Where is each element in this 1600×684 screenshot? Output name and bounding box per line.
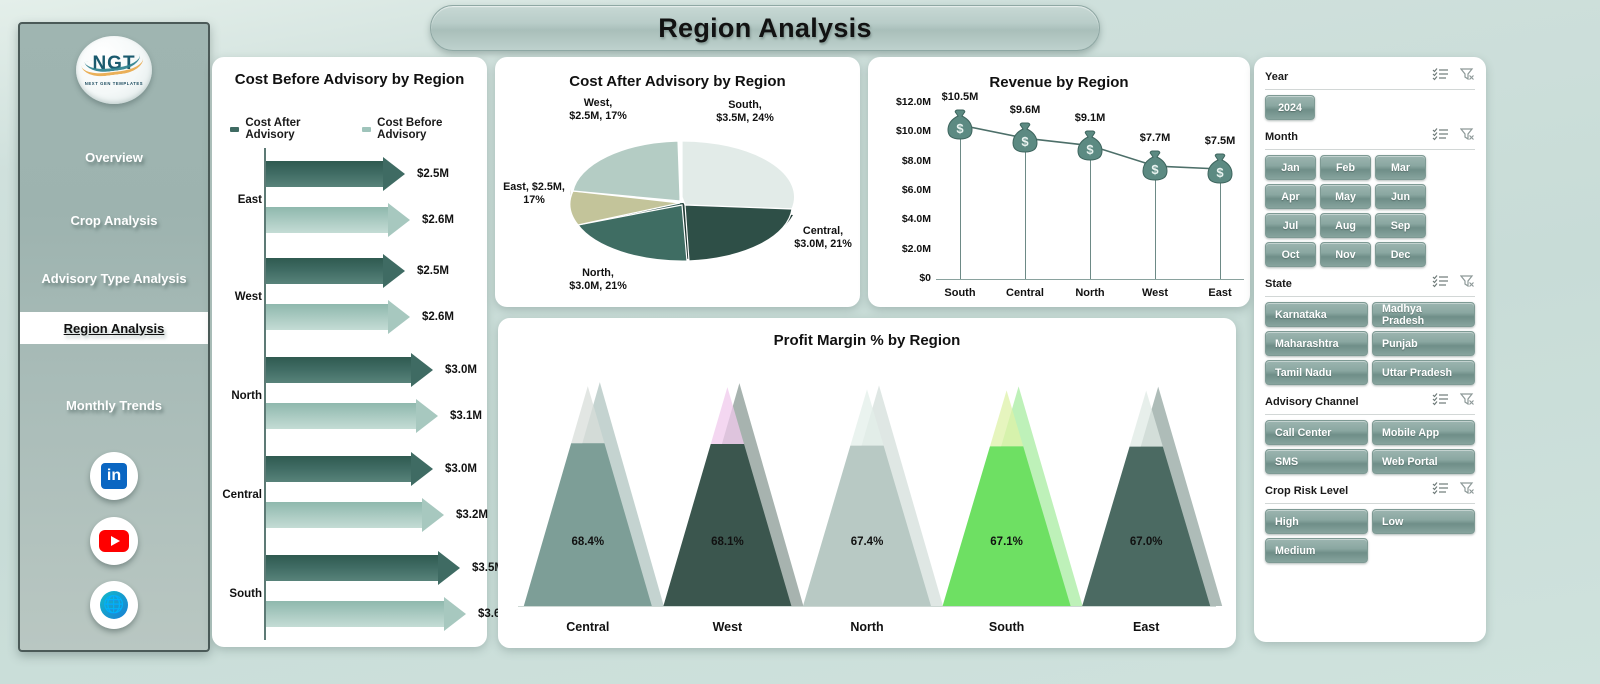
filter-header: State xyxy=(1265,274,1475,293)
clear-filter-icon[interactable] xyxy=(1460,392,1475,411)
filter-option-dec[interactable]: Dec xyxy=(1375,242,1426,267)
revenue-x-tick: North xyxy=(1060,287,1120,299)
revenue-x-tick: Central xyxy=(995,287,1055,299)
revenue-y-tick: $4.0M xyxy=(871,213,931,225)
multi-select-icon[interactable] xyxy=(1432,67,1449,86)
pyramid-value-label: 67.1% xyxy=(962,536,1052,548)
revenue-y-tick: $8.0M xyxy=(871,155,931,167)
filter-option-sep[interactable]: Sep xyxy=(1375,213,1426,238)
clear-filter-icon xyxy=(1460,392,1475,406)
revenue-x-axis xyxy=(936,279,1244,280)
legend-swatch-cost-before xyxy=(362,127,371,132)
filter-option-may[interactable]: May xyxy=(1320,184,1371,209)
filter-divider xyxy=(1265,296,1475,297)
svg-text:$: $ xyxy=(1086,142,1094,157)
filter-option-sms[interactable]: SMS xyxy=(1265,449,1368,474)
filter-divider xyxy=(1265,503,1475,504)
filter-option-mobile-app[interactable]: Mobile App xyxy=(1372,420,1475,445)
bar-value-label: $3.0M xyxy=(445,463,477,475)
filter-option-oct[interactable]: Oct xyxy=(1265,242,1316,267)
revenue-stem xyxy=(960,139,961,279)
clear-filter-icon xyxy=(1460,127,1475,141)
sidebar-item-label: Region Analysis xyxy=(64,321,165,336)
clear-filter-icon[interactable] xyxy=(1460,274,1475,293)
clear-filter-icon[interactable] xyxy=(1460,481,1475,500)
filter-option-2024[interactable]: 2024 xyxy=(1265,95,1315,120)
app-logo: NGT NEXT GEN TEMPLATES xyxy=(76,36,152,104)
sidebar-item-label: Monthly Trends xyxy=(66,398,162,413)
filter-option-karnataka[interactable]: Karnataka xyxy=(1265,302,1368,327)
bar-value-label: $3.2M xyxy=(456,509,488,521)
pie-label-north: North,$3.0M, 21% xyxy=(553,267,643,294)
revenue-x-tick: East xyxy=(1190,287,1250,299)
multi-select-icon xyxy=(1432,481,1449,495)
svg-text:$: $ xyxy=(1216,165,1224,180)
filter-option-low[interactable]: Low xyxy=(1372,509,1475,534)
sidebar-item-monthly-trends[interactable]: Monthly Trends xyxy=(20,390,208,420)
filter-options: 2024 xyxy=(1265,95,1475,120)
legend-swatch-cost-after xyxy=(230,127,239,132)
money-bag-icon: $ xyxy=(1140,150,1170,182)
pyramid-category-label: South xyxy=(952,620,1062,634)
logo-subtitle: NEXT GEN TEMPLATES xyxy=(85,81,143,86)
bar-value-label: $3.1M xyxy=(450,410,482,422)
revenue-stem xyxy=(1155,180,1156,279)
revenue-y-tick: $6.0M xyxy=(871,184,931,196)
bar-cost-before-central: $3.2M xyxy=(266,502,488,528)
pie-label-east: East, $2.5M,17% xyxy=(494,181,574,208)
bar-category-label: South xyxy=(220,588,262,600)
sidebar-item-label: Overview xyxy=(85,150,143,165)
filter-header: Year xyxy=(1265,67,1475,86)
bar-value-label: $2.6M xyxy=(422,214,454,226)
pyramid-value-label: 68.1% xyxy=(682,536,772,548)
bar-cost-after-west: $2.5M xyxy=(266,258,449,284)
revenue-x-tick: South xyxy=(930,287,990,299)
filter-panel: Year2024MonthJanFebMarAprMayJunJulAugSep… xyxy=(1254,57,1486,642)
pyramid-value-label: 68.4% xyxy=(543,536,633,548)
filter-groups: Year2024MonthJanFebMarAprMayJunJulAugSep… xyxy=(1265,67,1475,563)
multi-select-icon xyxy=(1432,67,1449,81)
filter-header-icons xyxy=(1432,481,1475,500)
revenue-data-label: $9.1M xyxy=(1060,112,1120,124)
sidebar-item-overview[interactable]: Overview xyxy=(20,142,208,172)
sidebar-item-region-analysis[interactable]: Region Analysis xyxy=(20,312,208,344)
filter-group-year: Year2024 xyxy=(1265,67,1475,120)
legend-item-cost-before: Cost Before Advisory xyxy=(362,117,487,141)
filter-title: Month xyxy=(1265,131,1298,143)
revenue-stem xyxy=(1220,183,1221,279)
pyramid-baseline xyxy=(518,606,1216,607)
revenue-data-label: $7.5M xyxy=(1190,135,1250,147)
filter-option-nov[interactable]: Nov xyxy=(1320,242,1371,267)
filter-title: Advisory Channel xyxy=(1265,396,1359,408)
filter-title: Crop Risk Level xyxy=(1265,485,1348,497)
svg-text:$: $ xyxy=(1021,134,1029,149)
money-bag-icon: $ xyxy=(945,109,975,141)
filter-option-apr[interactable]: Apr xyxy=(1265,184,1316,209)
bar-cost-after-central: $3.0M xyxy=(266,456,477,482)
chart-title-cost-before: Cost Before Advisory by Region xyxy=(212,71,487,88)
legend-label-cost-before: Cost Before Advisory xyxy=(377,117,487,141)
filter-group-state: StateKarnatakaMadhya PradeshMaharashtraP… xyxy=(1265,274,1475,385)
bar-value-label: $3.0M xyxy=(445,364,477,376)
chart-title-cost-after: Cost After Advisory by Region xyxy=(495,73,860,90)
sidebar-item-label: Crop Analysis xyxy=(71,213,158,228)
bar-value-label: $2.5M xyxy=(417,265,449,277)
svg-text:$: $ xyxy=(1151,162,1159,177)
filter-option-medium[interactable]: Medium xyxy=(1265,538,1368,563)
money-bag-icon: $ xyxy=(1075,130,1105,162)
pie-label-west: West,$2.5M, 17% xyxy=(555,97,641,124)
filter-divider xyxy=(1265,414,1475,415)
multi-select-icon[interactable] xyxy=(1432,127,1449,146)
filter-header-icons xyxy=(1432,274,1475,293)
bar-category-label: East xyxy=(220,194,262,206)
youtube-glyph xyxy=(99,530,129,552)
pyramid-category-label: North xyxy=(812,620,922,634)
filter-options: Call CenterMobile AppSMSWeb Portal xyxy=(1265,420,1475,474)
filter-option-aug[interactable]: Aug xyxy=(1320,213,1371,238)
chart-title-revenue: Revenue by Region xyxy=(868,74,1250,91)
filter-option-jun[interactable]: Jun xyxy=(1375,184,1426,209)
bar-cost-after-north: $3.0M xyxy=(266,357,477,383)
sidebar-item-label: Advisory Type Analysis xyxy=(41,271,186,286)
card-cost-before-advisory: Cost Before Advisory by Region Cost Afte… xyxy=(212,57,487,647)
filter-option-tamil-nadu[interactable]: Tamil Nadu xyxy=(1265,360,1368,385)
filter-option-jan[interactable]: Jan xyxy=(1265,155,1316,180)
bar-value-label: $2.6M xyxy=(422,311,454,323)
clear-filter-icon xyxy=(1460,274,1475,288)
revenue-y-tick: $0 xyxy=(871,272,931,284)
filter-options: JanFebMarAprMayJunJulAugSepOctNovDec xyxy=(1265,155,1475,267)
bar-category-label: West xyxy=(220,291,262,303)
filter-option-high[interactable]: High xyxy=(1265,509,1368,534)
linkedin-icon[interactable]: in xyxy=(90,452,138,500)
pyramid-value-label: 67.4% xyxy=(822,536,912,548)
bar-cost-after-east: $2.5M xyxy=(266,161,449,187)
revenue-x-tick: West xyxy=(1125,287,1185,299)
money-bag-icon: $ xyxy=(1205,153,1235,185)
revenue-data-label: $10.5M xyxy=(930,91,990,103)
multi-select-icon[interactable] xyxy=(1432,481,1449,500)
bar-category-label: Central xyxy=(220,489,262,501)
globe-glyph: 🌐 xyxy=(100,591,128,619)
bar-cost-after-south: $3.5M xyxy=(266,555,504,581)
filter-option-call-center[interactable]: Call Center xyxy=(1265,420,1368,445)
filter-header: Month xyxy=(1265,127,1475,146)
filter-group-advisory-channel: Advisory ChannelCall CenterMobile AppSMS… xyxy=(1265,392,1475,474)
multi-select-icon xyxy=(1432,274,1449,288)
pyramid-category-label: Central xyxy=(533,620,643,634)
linkedin-glyph: in xyxy=(101,463,127,489)
sidebar-item-crop-analysis[interactable]: Crop Analysis xyxy=(20,205,208,235)
pyramid-value-label: 67.0% xyxy=(1101,536,1191,548)
clear-filter-icon xyxy=(1460,481,1475,495)
youtube-icon[interactable] xyxy=(90,517,138,565)
card-profit-margin: Profit Margin % by Region Central68.4%We… xyxy=(498,318,1236,648)
pie-label-south: South,$3.5M, 24% xyxy=(705,99,785,126)
pyramid-category-label: West xyxy=(672,620,782,634)
page-title-banner: Region Analysis xyxy=(430,5,1100,51)
filter-header-icons xyxy=(1432,392,1475,411)
bar-cost-before-north: $3.1M xyxy=(266,403,482,429)
filter-title: State xyxy=(1265,278,1292,290)
revenue-y-tick: $10.0M xyxy=(871,125,931,137)
card-revenue-by-region: Revenue by Region $12.0M$10.0M$8.0M$6.0M… xyxy=(868,57,1250,307)
revenue-y-tick: $2.0M xyxy=(871,243,931,255)
legend-cost-before: Cost After Advisory Cost Before Advisory xyxy=(230,117,487,141)
pyramid-svg xyxy=(498,318,1236,648)
sidebar-item-advisory-type-analysis[interactable]: Advisory Type Analysis xyxy=(20,263,208,293)
legend-item-cost-after: Cost After Advisory xyxy=(230,117,346,141)
svg-text:$: $ xyxy=(956,121,964,136)
multi-select-icon[interactable] xyxy=(1432,392,1449,411)
clear-filter-icon[interactable] xyxy=(1460,127,1475,146)
filter-option-madhya-pradesh[interactable]: Madhya Pradesh xyxy=(1372,302,1475,327)
bar-value-label: $2.5M xyxy=(417,168,449,180)
money-bag-icon: $ xyxy=(1010,122,1040,154)
pie-chart xyxy=(555,109,810,289)
bar-category-label: North xyxy=(220,390,262,402)
website-icon[interactable]: 🌐 xyxy=(90,581,138,629)
filter-title: Year xyxy=(1265,71,1288,83)
revenue-data-label: $9.6M xyxy=(995,104,1055,116)
revenue-data-label: $7.7M xyxy=(1125,132,1185,144)
filter-header: Crop Risk Level xyxy=(1265,481,1475,500)
pyramid-category-label: East xyxy=(1091,620,1201,634)
legend-label-cost-after: Cost After Advisory xyxy=(245,117,345,141)
pie-svg xyxy=(555,109,810,289)
filter-group-crop-risk-level: Crop Risk LevelHighLowMedium xyxy=(1265,481,1475,563)
revenue-line-svg xyxy=(868,57,1250,307)
filter-option-mar[interactable]: Mar xyxy=(1375,155,1426,180)
filter-options: HighLowMedium xyxy=(1265,509,1475,563)
pie-label-central: Central,$3.0M, 21% xyxy=(780,225,866,252)
filter-divider xyxy=(1265,89,1475,90)
multi-select-icon xyxy=(1432,127,1449,141)
revenue-stem xyxy=(1025,152,1026,279)
multi-select-icon[interactable] xyxy=(1432,274,1449,293)
filter-options: KarnatakaMadhya PradeshMaharashtraPunjab… xyxy=(1265,302,1475,385)
revenue-stem xyxy=(1090,160,1091,279)
card-cost-after-advisory: Cost After Advisory by Region xyxy=(495,57,860,307)
bar-cost-before-east: $2.6M xyxy=(266,207,454,233)
filter-option-jul[interactable]: Jul xyxy=(1265,213,1316,238)
revenue-y-tick: $12.0M xyxy=(871,96,931,108)
filter-option-punjab[interactable]: Punjab xyxy=(1372,331,1475,356)
filter-header-icons xyxy=(1432,67,1475,86)
filter-divider xyxy=(1265,149,1475,150)
bar-cost-before-west: $2.6M xyxy=(266,304,454,330)
bar-cost-before-south: $3.6M xyxy=(266,601,510,627)
filter-group-month: MonthJanFebMarAprMayJunJulAugSepOctNovDe… xyxy=(1265,127,1475,267)
filter-option-uttar-pradesh[interactable]: Uttar Pradesh xyxy=(1372,360,1475,385)
filter-option-maharashtra[interactable]: Maharashtra xyxy=(1265,331,1368,356)
filter-header-icons xyxy=(1432,127,1475,146)
clear-filter-icon[interactable] xyxy=(1460,67,1475,86)
filter-header: Advisory Channel xyxy=(1265,392,1475,411)
clear-filter-icon xyxy=(1460,67,1475,81)
filter-option-web-portal[interactable]: Web Portal xyxy=(1372,449,1475,474)
page-title: Region Analysis xyxy=(658,13,872,44)
multi-select-icon xyxy=(1432,392,1449,406)
sidebar: NGT NEXT GEN TEMPLATES OverviewCrop Anal… xyxy=(18,22,210,652)
filter-option-feb[interactable]: Feb xyxy=(1320,155,1371,180)
